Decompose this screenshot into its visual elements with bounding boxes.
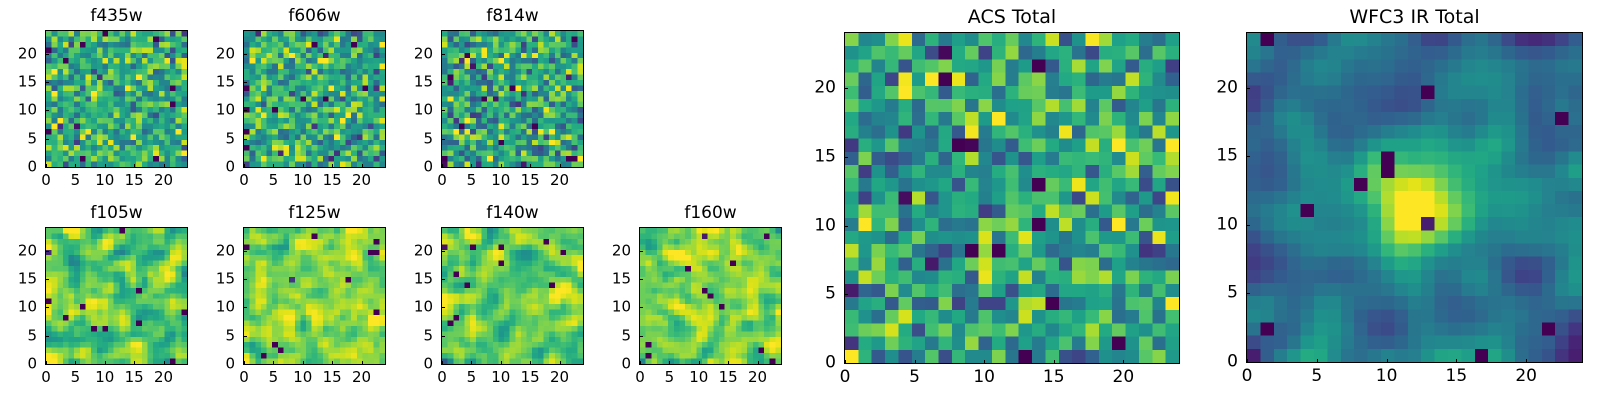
ytick-f814w-5 xyxy=(441,139,445,140)
xtick-acs-total-5 xyxy=(915,360,916,364)
ytick-label-f160w-20: 20 xyxy=(591,243,631,258)
ytick-f606w-5 xyxy=(243,139,247,140)
ytick-acs-total-15 xyxy=(844,157,848,158)
panel-title-f814w: f814w xyxy=(441,8,584,25)
xtick-f606w-10 xyxy=(303,164,304,168)
ytick-f160w-5 xyxy=(639,336,643,337)
ytick-f105w-10 xyxy=(45,307,49,308)
ytick-acs-total-0 xyxy=(844,363,848,364)
heatmap-acs-total xyxy=(844,32,1180,364)
xtick-acs-total-15 xyxy=(1054,360,1055,364)
xtick-label-f814w-10: 10 xyxy=(491,173,510,188)
ytick-label-f606w-0: 0 xyxy=(195,160,235,175)
ytick-label-f814w-20: 20 xyxy=(393,46,433,61)
ytick-label-f160w-0: 0 xyxy=(591,357,631,372)
ytick-label-acs-total-20: 20 xyxy=(796,80,836,97)
ytick-label-f105w-20: 20 xyxy=(0,243,37,258)
heatmap-f606w xyxy=(243,30,386,168)
xtick-wfc3-ir-total-5 xyxy=(1317,359,1318,363)
ytick-acs-total-5 xyxy=(844,294,848,295)
heatmap-f125w xyxy=(243,227,386,365)
xtick-label-acs-total-5: 5 xyxy=(909,369,920,386)
xtick-f125w-5 xyxy=(273,361,274,365)
ytick-f606w-20 xyxy=(243,54,247,55)
xtick-label-f140w-5: 5 xyxy=(467,370,477,385)
ytick-f140w-10 xyxy=(441,307,445,308)
ytick-wfc3-ir-total-15 xyxy=(1246,156,1250,157)
xtick-wfc3-ir-total-15 xyxy=(1456,359,1457,363)
ytick-f125w-15 xyxy=(243,279,247,280)
xtick-f435w-10 xyxy=(105,164,106,168)
xtick-f125w-20 xyxy=(362,361,363,365)
ytick-label-wfc3-ir-total-5: 5 xyxy=(1198,285,1238,302)
xtick-f814w-5 xyxy=(471,164,472,168)
panel-title-f125w: f125w xyxy=(243,205,386,222)
ytick-label-wfc3-ir-total-20: 20 xyxy=(1198,79,1238,96)
ytick-label-f814w-0: 0 xyxy=(393,160,433,175)
ytick-f140w-15 xyxy=(441,279,445,280)
xtick-label-f125w-5: 5 xyxy=(269,370,279,385)
xtick-label-f435w-0: 0 xyxy=(41,173,51,188)
ytick-label-wfc3-ir-total-10: 10 xyxy=(1198,216,1238,233)
ytick-label-f125w-15: 15 xyxy=(195,272,235,287)
ytick-f606w-10 xyxy=(243,110,247,111)
panel-title-acs-total: ACS Total xyxy=(844,8,1180,27)
xtick-label-acs-total-0: 0 xyxy=(840,369,851,386)
ytick-label-f140w-10: 10 xyxy=(393,300,433,315)
xtick-label-f606w-0: 0 xyxy=(239,173,249,188)
panel-f435w: f435w0510152005101520 xyxy=(45,30,188,168)
ytick-label-f125w-0: 0 xyxy=(195,357,235,372)
panel-f606w: f606w0510152005101520 xyxy=(243,30,386,168)
heatmap-f105w xyxy=(45,227,188,365)
ytick-f140w-0 xyxy=(441,364,445,365)
panel-title-f105w: f105w xyxy=(45,205,188,222)
xtick-f814w-15 xyxy=(530,164,531,168)
xtick-f125w-10 xyxy=(303,361,304,365)
panel-title-f435w: f435w xyxy=(45,8,188,25)
xtick-label-f814w-0: 0 xyxy=(437,173,447,188)
heatmap-canvas-f160w xyxy=(640,228,781,364)
xtick-f140w-20 xyxy=(560,361,561,365)
xtick-label-f435w-5: 5 xyxy=(71,173,81,188)
ytick-label-acs-total-0: 0 xyxy=(796,355,836,372)
heatmap-wfc3-ir-total xyxy=(1246,32,1583,363)
ytick-f814w-0 xyxy=(441,167,445,168)
xtick-label-f105w-5: 5 xyxy=(71,370,81,385)
xtick-label-wfc3-ir-total-5: 5 xyxy=(1311,368,1322,385)
ytick-acs-total-20 xyxy=(844,88,848,89)
panel-f125w: f125w0510152005101520 xyxy=(243,227,386,365)
xtick-label-acs-total-10: 10 xyxy=(973,369,995,386)
heatmap-f140w xyxy=(441,227,584,365)
ytick-wfc3-ir-total-5 xyxy=(1246,293,1250,294)
xtick-acs-total-20 xyxy=(1123,360,1124,364)
xtick-label-f140w-15: 15 xyxy=(521,370,540,385)
ytick-f160w-0 xyxy=(639,364,643,365)
xtick-label-f140w-20: 20 xyxy=(550,370,569,385)
ytick-label-f435w-0: 0 xyxy=(0,160,37,175)
xtick-f105w-10 xyxy=(105,361,106,365)
heatmap-canvas-f435w xyxy=(46,31,187,167)
xtick-label-f606w-5: 5 xyxy=(269,173,279,188)
xtick-label-f105w-15: 15 xyxy=(125,370,144,385)
ytick-f125w-0 xyxy=(243,364,247,365)
xtick-label-f125w-10: 10 xyxy=(293,370,312,385)
ytick-label-f105w-5: 5 xyxy=(0,328,37,343)
xtick-label-f140w-10: 10 xyxy=(491,370,510,385)
heatmap-canvas-f814w xyxy=(442,31,583,167)
xtick-label-f160w-20: 20 xyxy=(748,370,767,385)
xtick-label-f606w-15: 15 xyxy=(323,173,342,188)
ytick-label-f435w-15: 15 xyxy=(0,75,37,90)
xtick-f160w-20 xyxy=(758,361,759,365)
panel-f814w: f814w0510152005101520 xyxy=(441,30,584,168)
heatmap-canvas-f125w xyxy=(244,228,385,364)
ytick-f125w-5 xyxy=(243,336,247,337)
ytick-label-f814w-15: 15 xyxy=(393,75,433,90)
xtick-f140w-15 xyxy=(530,361,531,365)
ytick-f435w-20 xyxy=(45,54,49,55)
xtick-label-f160w-0: 0 xyxy=(635,370,645,385)
xtick-f814w-10 xyxy=(501,164,502,168)
ytick-wfc3-ir-total-20 xyxy=(1246,88,1250,89)
ytick-label-acs-total-15: 15 xyxy=(796,148,836,165)
ytick-label-f814w-10: 10 xyxy=(393,103,433,118)
xtick-label-wfc3-ir-total-10: 10 xyxy=(1376,368,1398,385)
xtick-label-acs-total-15: 15 xyxy=(1043,369,1065,386)
panel-f140w: f140w0510152005101520 xyxy=(441,227,584,365)
xtick-f125w-15 xyxy=(332,361,333,365)
ytick-label-f105w-15: 15 xyxy=(0,272,37,287)
xtick-f105w-15 xyxy=(134,361,135,365)
panel-acs-total: ACS Total0510152005101520 xyxy=(844,32,1180,364)
xtick-f140w-5 xyxy=(471,361,472,365)
xtick-f606w-15 xyxy=(332,164,333,168)
ytick-label-f606w-20: 20 xyxy=(195,46,235,61)
ytick-f435w-0 xyxy=(45,167,49,168)
panel-title-f606w: f606w xyxy=(243,8,386,25)
panel-title-wfc3-ir-total: WFC3 IR Total xyxy=(1246,8,1583,27)
xtick-wfc3-ir-total-20 xyxy=(1526,359,1527,363)
xtick-wfc3-ir-total-10 xyxy=(1387,359,1388,363)
ytick-f814w-10 xyxy=(441,110,445,111)
heatmap-canvas-f606w xyxy=(244,31,385,167)
heatmap-canvas-f105w xyxy=(46,228,187,364)
xtick-label-f105w-20: 20 xyxy=(154,370,173,385)
ytick-label-wfc3-ir-total-15: 15 xyxy=(1198,148,1238,165)
heatmap-canvas-f140w xyxy=(442,228,583,364)
xtick-label-acs-total-20: 20 xyxy=(1113,369,1135,386)
xtick-f606w-20 xyxy=(362,164,363,168)
ytick-wfc3-ir-total-10 xyxy=(1246,225,1250,226)
xtick-f435w-20 xyxy=(164,164,165,168)
xtick-label-wfc3-ir-total-20: 20 xyxy=(1515,368,1537,385)
ytick-label-f814w-5: 5 xyxy=(393,131,433,146)
xtick-label-f606w-10: 10 xyxy=(293,173,312,188)
heatmap-canvas-wfc3-ir-total xyxy=(1247,33,1582,362)
heatmap-f160w xyxy=(639,227,782,365)
ytick-label-wfc3-ir-total-0: 0 xyxy=(1198,354,1238,371)
xtick-label-f105w-0: 0 xyxy=(41,370,51,385)
ytick-f160w-10 xyxy=(639,307,643,308)
xtick-label-f160w-10: 10 xyxy=(689,370,708,385)
ytick-label-acs-total-5: 5 xyxy=(796,286,836,303)
ytick-label-f125w-20: 20 xyxy=(195,243,235,258)
ytick-f435w-5 xyxy=(45,139,49,140)
ytick-f105w-20 xyxy=(45,251,49,252)
xtick-f105w-5 xyxy=(75,361,76,365)
ytick-label-f125w-10: 10 xyxy=(195,300,235,315)
panel-title-f160w: f160w xyxy=(639,205,782,222)
ytick-label-f606w-5: 5 xyxy=(195,131,235,146)
ytick-wfc3-ir-total-0 xyxy=(1246,362,1250,363)
ytick-label-f160w-5: 5 xyxy=(591,328,631,343)
ytick-f606w-15 xyxy=(243,82,247,83)
xtick-f160w-10 xyxy=(699,361,700,365)
xtick-label-f160w-15: 15 xyxy=(719,370,738,385)
ytick-f160w-20 xyxy=(639,251,643,252)
ytick-f125w-20 xyxy=(243,251,247,252)
panel-f105w: f105w0510152005101520 xyxy=(45,227,188,365)
xtick-f160w-15 xyxy=(728,361,729,365)
ytick-label-f435w-10: 10 xyxy=(0,103,37,118)
ytick-label-f140w-5: 5 xyxy=(393,328,433,343)
ytick-f125w-10 xyxy=(243,307,247,308)
xtick-label-f814w-20: 20 xyxy=(550,173,569,188)
xtick-acs-total-10 xyxy=(984,360,985,364)
ytick-f160w-15 xyxy=(639,279,643,280)
ytick-label-f105w-10: 10 xyxy=(0,300,37,315)
xtick-label-f435w-15: 15 xyxy=(125,173,144,188)
ytick-f105w-0 xyxy=(45,364,49,365)
panel-title-f140w: f140w xyxy=(441,205,584,222)
xtick-f435w-15 xyxy=(134,164,135,168)
xtick-f606w-5 xyxy=(273,164,274,168)
xtick-label-wfc3-ir-total-15: 15 xyxy=(1446,368,1468,385)
ytick-label-f140w-15: 15 xyxy=(393,272,433,287)
xtick-label-f125w-0: 0 xyxy=(239,370,249,385)
xtick-f140w-10 xyxy=(501,361,502,365)
ytick-f435w-15 xyxy=(45,82,49,83)
ytick-f814w-20 xyxy=(441,54,445,55)
heatmap-f435w xyxy=(45,30,188,168)
xtick-label-f606w-20: 20 xyxy=(352,173,371,188)
xtick-label-f435w-20: 20 xyxy=(154,173,173,188)
heatmap-f814w xyxy=(441,30,584,168)
ytick-f140w-20 xyxy=(441,251,445,252)
ytick-label-f435w-5: 5 xyxy=(0,131,37,146)
panel-wfc3-ir-total: WFC3 IR Total0510152005101520 xyxy=(1246,32,1583,363)
ytick-label-f140w-20: 20 xyxy=(393,243,433,258)
heatmap-canvas-acs-total xyxy=(845,33,1179,363)
ytick-label-f435w-20: 20 xyxy=(0,46,37,61)
ytick-f105w-5 xyxy=(45,336,49,337)
ytick-f814w-15 xyxy=(441,82,445,83)
ytick-label-f160w-15: 15 xyxy=(591,272,631,287)
ytick-label-f606w-15: 15 xyxy=(195,75,235,90)
xtick-f160w-5 xyxy=(669,361,670,365)
xtick-label-f125w-15: 15 xyxy=(323,370,342,385)
xtick-label-f140w-0: 0 xyxy=(437,370,447,385)
xtick-f435w-5 xyxy=(75,164,76,168)
ytick-label-f160w-10: 10 xyxy=(591,300,631,315)
xtick-f814w-20 xyxy=(560,164,561,168)
ytick-label-f140w-0: 0 xyxy=(393,357,433,372)
xtick-label-f125w-20: 20 xyxy=(352,370,371,385)
xtick-label-wfc3-ir-total-0: 0 xyxy=(1242,368,1253,385)
ytick-acs-total-10 xyxy=(844,226,848,227)
xtick-label-f160w-5: 5 xyxy=(665,370,675,385)
xtick-label-f105w-10: 10 xyxy=(95,370,114,385)
figure-canvas: f435w0510152005101520f606w05101520051015… xyxy=(0,0,1600,400)
xtick-label-f814w-5: 5 xyxy=(467,173,477,188)
ytick-f140w-5 xyxy=(441,336,445,337)
ytick-f435w-10 xyxy=(45,110,49,111)
ytick-label-f606w-10: 10 xyxy=(195,103,235,118)
panel-f160w: f160w0510152005101520 xyxy=(639,227,782,365)
xtick-label-f435w-10: 10 xyxy=(95,173,114,188)
ytick-label-acs-total-10: 10 xyxy=(796,217,836,234)
ytick-label-f105w-0: 0 xyxy=(0,357,37,372)
ytick-label-f125w-5: 5 xyxy=(195,328,235,343)
ytick-f105w-15 xyxy=(45,279,49,280)
xtick-f105w-20 xyxy=(164,361,165,365)
ytick-f606w-0 xyxy=(243,167,247,168)
xtick-label-f814w-15: 15 xyxy=(521,173,540,188)
